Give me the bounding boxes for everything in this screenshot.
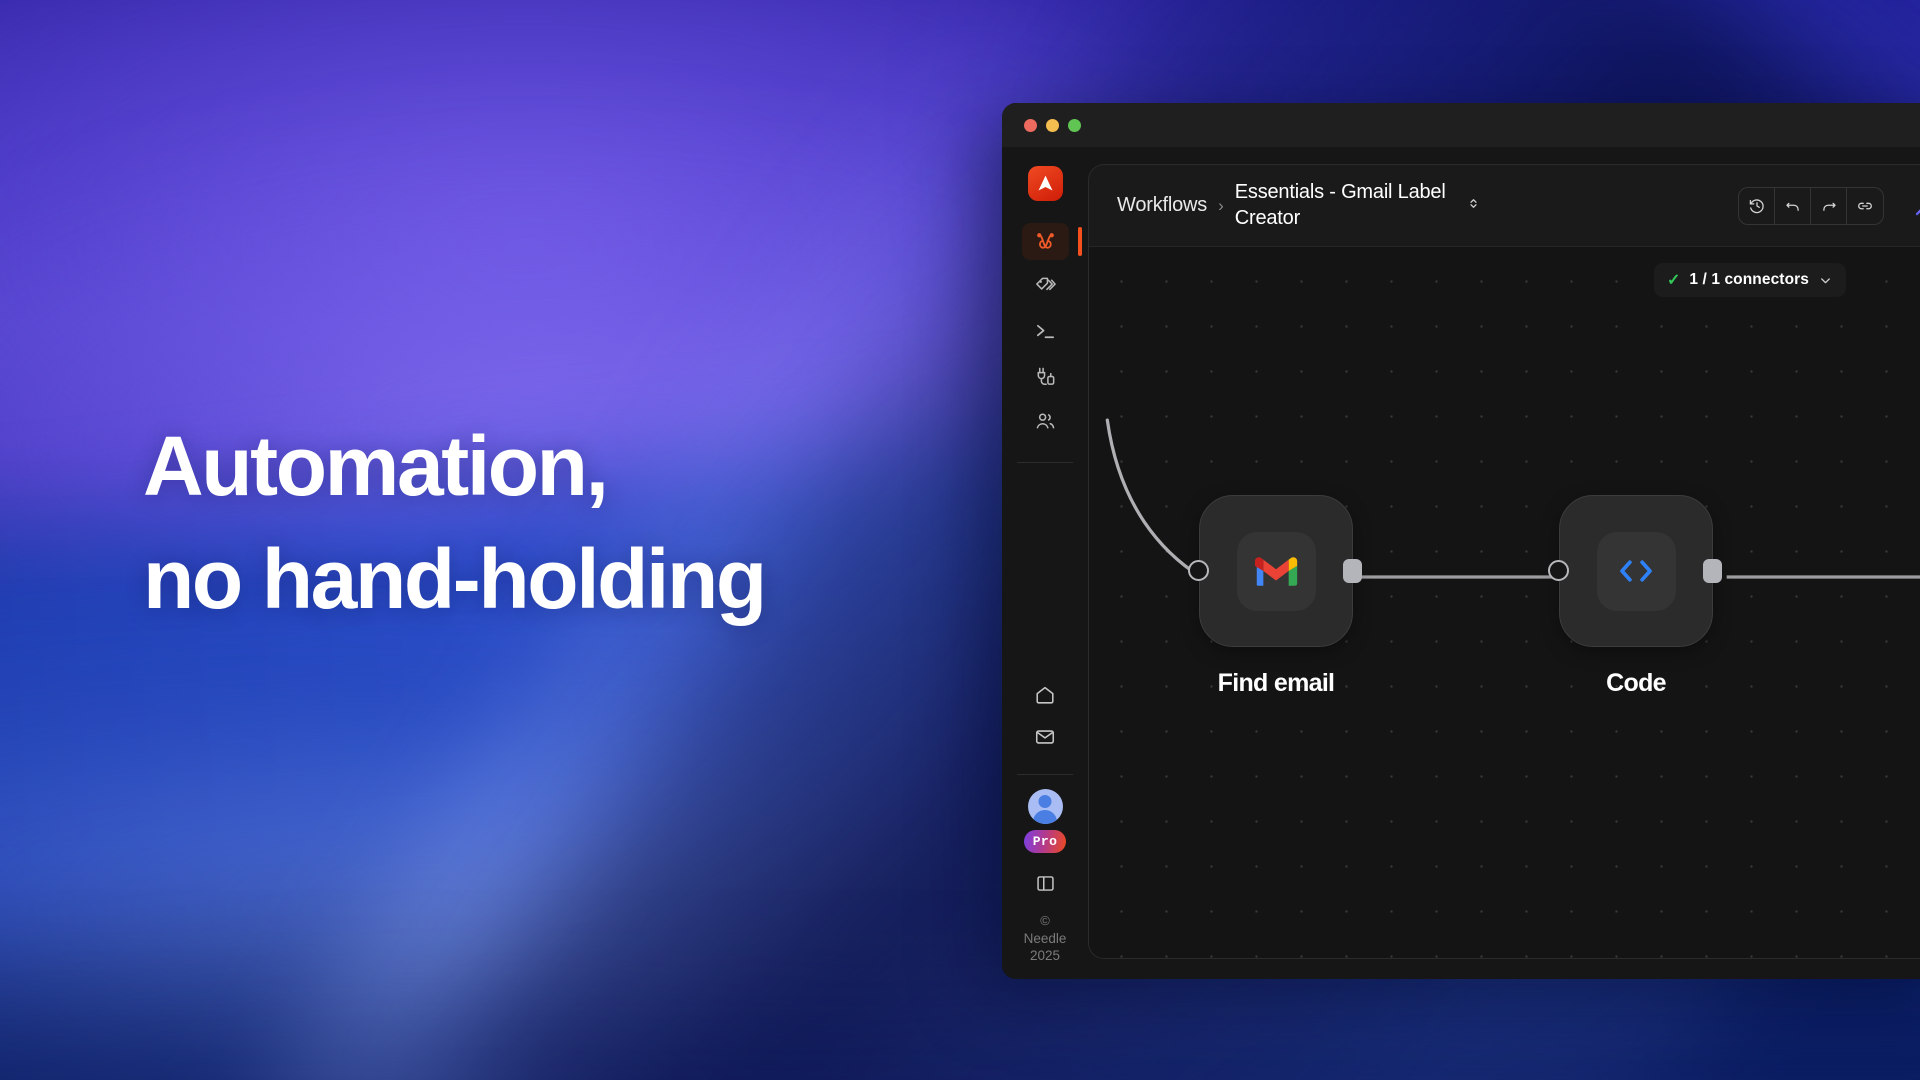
window-body: Pro © Needle 2025 Workflows › Essentials… xyxy=(1002,147,1920,979)
node-code-box[interactable] xyxy=(1559,495,1713,647)
node-find-email-icon-tile xyxy=(1237,532,1316,611)
sidebar-item-connectors[interactable] xyxy=(1022,358,1069,395)
code-brackets-icon xyxy=(1615,556,1657,586)
headline-line-1: Automation, xyxy=(143,419,607,513)
copyright-symbol: © xyxy=(1024,913,1067,930)
headline-line-2: no hand-holding xyxy=(143,523,903,636)
sidebar-item-tags[interactable] xyxy=(1022,268,1069,305)
magic-wand-icon xyxy=(1913,194,1920,218)
sidebar-item-terminal[interactable] xyxy=(1022,313,1069,350)
node-code-input-port[interactable] xyxy=(1548,560,1569,581)
users-icon xyxy=(1034,410,1057,433)
history-icon xyxy=(1748,197,1766,215)
sidebar-divider-top xyxy=(1017,462,1073,463)
breadcrumb-root-link[interactable]: Workflows xyxy=(1117,194,1207,217)
connectors-status-label: 1 / 1 connectors xyxy=(1689,271,1809,289)
sidebar-divider-bottom xyxy=(1017,774,1073,775)
home-icon xyxy=(1034,684,1056,706)
tags-icon xyxy=(1034,275,1057,298)
sidebar-item-workflows[interactable] xyxy=(1022,223,1069,260)
link-icon xyxy=(1856,197,1874,215)
workflow-canvas[interactable]: ✓ 1 / 1 connectors xyxy=(1089,247,1920,958)
hero-headline: Automation, no hand-holding xyxy=(143,410,903,635)
plan-badge-pro[interactable]: Pro xyxy=(1024,830,1066,853)
window-minimize-button[interactable] xyxy=(1046,119,1059,132)
undo-button[interactable] xyxy=(1775,188,1811,224)
history-button[interactable] xyxy=(1739,188,1775,224)
sidebar: Pro © Needle 2025 xyxy=(1002,147,1088,979)
chevron-up-down-icon xyxy=(1466,196,1481,211)
user-avatar[interactable] xyxy=(1028,789,1063,824)
redo-icon xyxy=(1820,197,1838,215)
node-find-email[interactable]: Find email xyxy=(1199,495,1353,698)
workflows-icon xyxy=(1034,230,1057,253)
panel-header: Workflows › Essentials - Gmail Label Cre… xyxy=(1089,165,1920,247)
node-find-email-box[interactable] xyxy=(1199,495,1353,647)
node-code-icon-tile xyxy=(1597,532,1676,611)
sidebar-item-home[interactable] xyxy=(1023,676,1067,714)
needle-logo-glyph xyxy=(1035,173,1056,194)
avatar-body xyxy=(1033,810,1057,824)
workflow-panel: Workflows › Essentials - Gmail Label Cre… xyxy=(1088,164,1920,959)
copyright-notice: © Needle 2025 xyxy=(1024,913,1067,965)
breadcrumb: Workflows › Essentials - Gmail Label Cre… xyxy=(1117,180,1481,231)
node-find-email-label: Find email xyxy=(1199,669,1353,698)
check-icon: ✓ xyxy=(1667,270,1680,290)
window-zoom-button[interactable] xyxy=(1068,119,1081,132)
workflow-title: Essentials - Gmail Label Creator xyxy=(1235,180,1450,231)
node-code-label: Code xyxy=(1559,669,1713,698)
sidebar-item-mail[interactable] xyxy=(1023,718,1067,756)
workflow-switcher-button[interactable] xyxy=(1466,196,1481,216)
node-find-email-input-port[interactable] xyxy=(1188,560,1209,581)
sidebar-panel-toggle[interactable] xyxy=(1023,864,1067,902)
copyright-name: Needle xyxy=(1024,931,1067,946)
node-code-output-port[interactable] xyxy=(1703,559,1722,583)
gmail-icon xyxy=(1254,555,1298,588)
chevron-down-glyph xyxy=(1818,273,1833,288)
mail-icon xyxy=(1034,726,1056,748)
panel-toolbar xyxy=(1738,187,1920,225)
terminal-icon xyxy=(1034,320,1057,343)
chevron-down-icon[interactable] xyxy=(1818,273,1833,288)
breadcrumb-separator: › xyxy=(1218,196,1224,216)
window-titlebar xyxy=(1002,103,1920,147)
copy-link-button[interactable] xyxy=(1847,188,1883,224)
avatar-head xyxy=(1039,795,1052,808)
connectors-status-badge[interactable]: ✓ 1 / 1 connectors xyxy=(1654,263,1846,297)
undo-icon xyxy=(1784,197,1802,215)
plug-connector-icon xyxy=(1034,365,1057,388)
sidebar-item-team[interactable] xyxy=(1022,403,1069,440)
redo-button[interactable] xyxy=(1811,188,1847,224)
sidebar-toggle-icon xyxy=(1035,873,1056,894)
ai-assist-button[interactable] xyxy=(1910,191,1920,221)
copyright-year: 2025 xyxy=(1030,948,1060,963)
node-code[interactable]: Code xyxy=(1559,495,1713,698)
needle-logo[interactable] xyxy=(1028,166,1063,201)
app-window: Pro © Needle 2025 Workflows › Essentials… xyxy=(1002,103,1920,979)
window-close-button[interactable] xyxy=(1024,119,1037,132)
edge-incoming xyxy=(1107,420,1201,577)
toolbar-button-group xyxy=(1738,187,1884,225)
node-find-email-output-port[interactable] xyxy=(1343,559,1362,583)
